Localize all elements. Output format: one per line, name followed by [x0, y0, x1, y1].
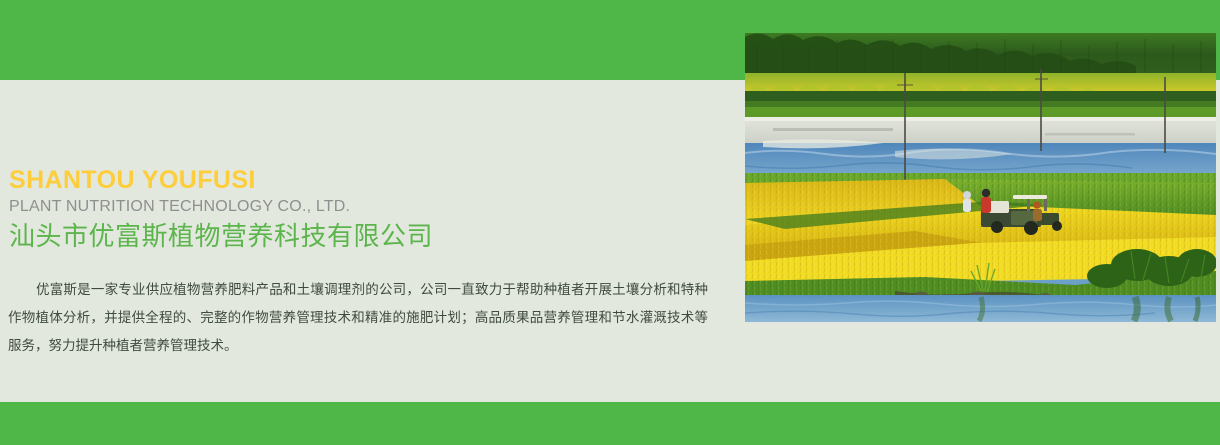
brand-block: SHANTOU YOUFUSI PLANT NUTRITION TECHNOLO…: [9, 165, 729, 255]
rice-paddy-illustration: [745, 33, 1216, 322]
page-root: SHANTOU YOUFUSI PLANT NUTRITION TECHNOLO…: [0, 0, 1220, 445]
company-introduction-paragraph: 优富斯是一家专业供应植物营养肥料产品和土壤调理剂的公司，公司一直致力于帮助种植者…: [8, 276, 708, 360]
company-name-english: SHANTOU YOUFUSI: [9, 165, 729, 195]
bottom-green-bar: [0, 402, 1220, 445]
company-name-chinese: 汕头市优富斯植物营养科技有限公司: [9, 219, 729, 255]
rice-paddy-photo: [745, 33, 1216, 322]
company-subtitle-english: PLANT NUTRITION TECHNOLOGY CO., LTD.: [9, 195, 729, 219]
